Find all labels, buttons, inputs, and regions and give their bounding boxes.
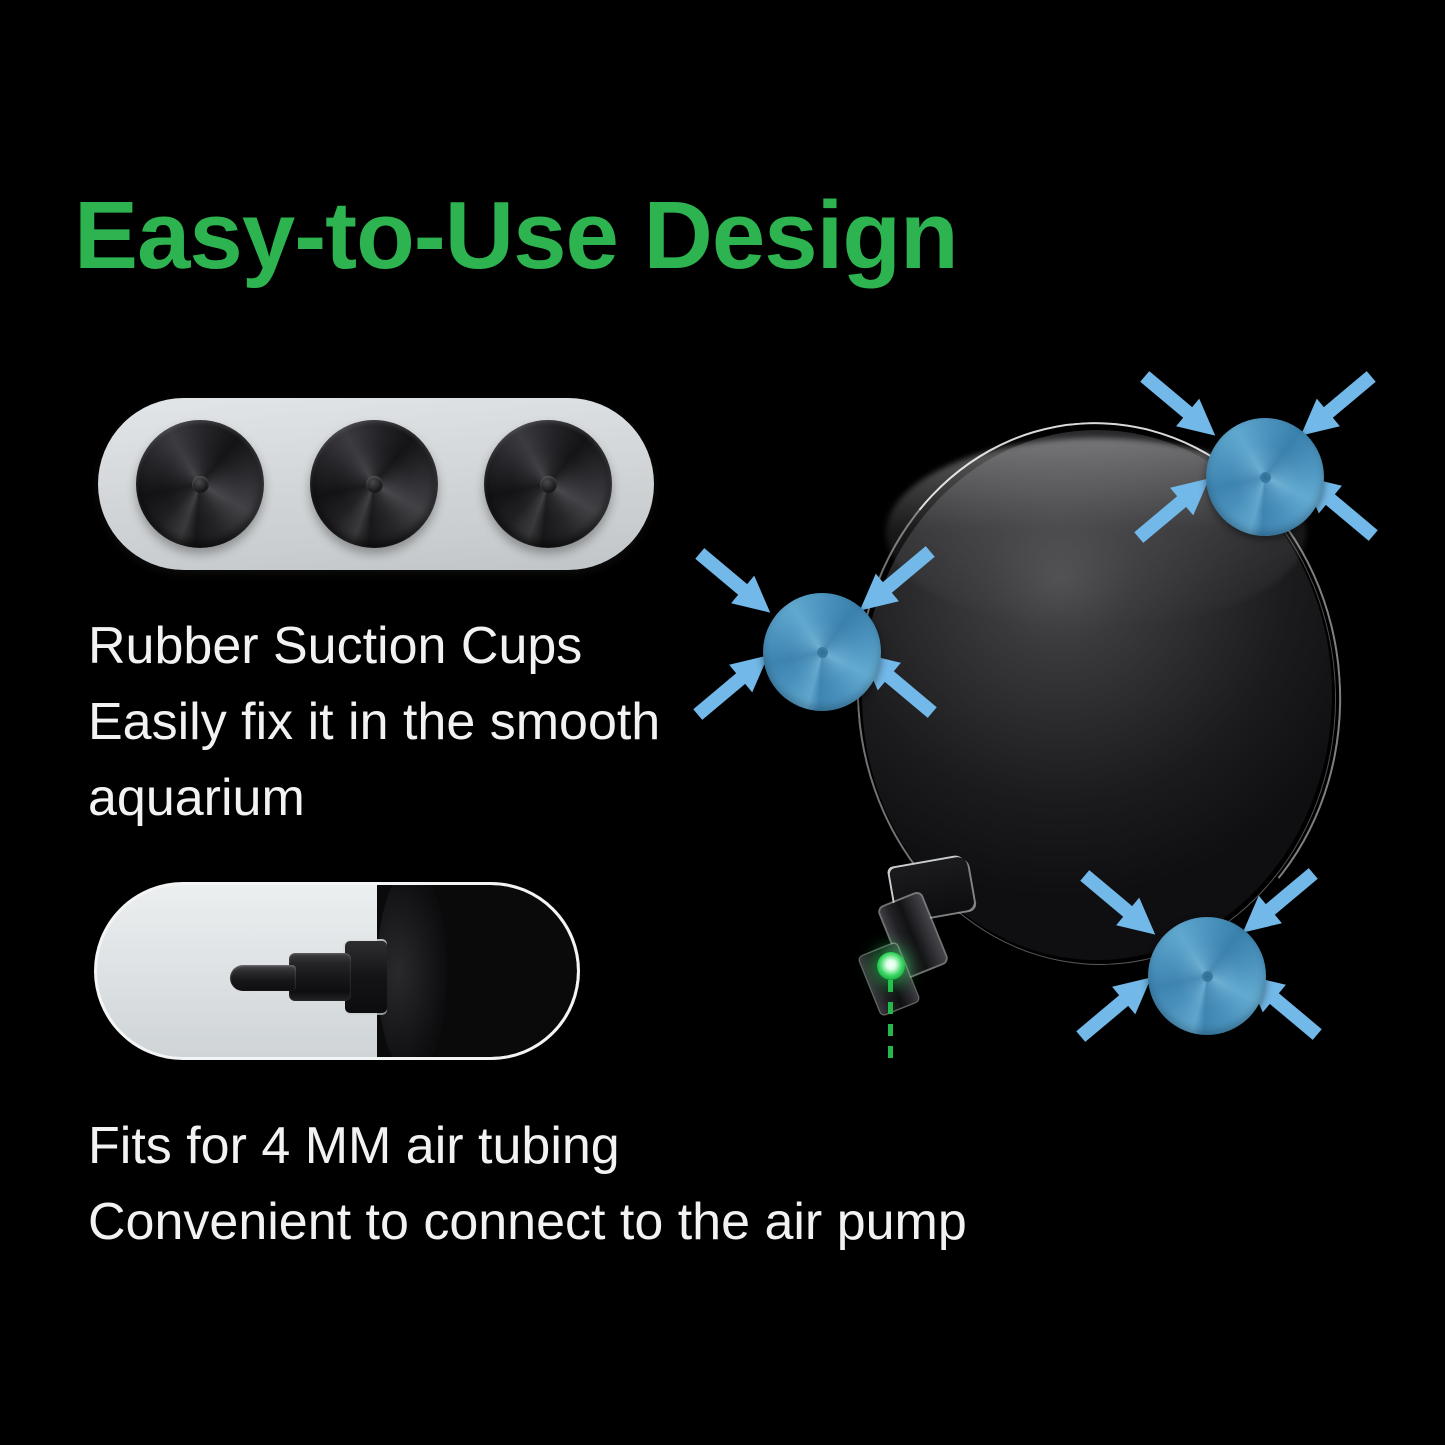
nozzle-card-disc-edge [377, 882, 447, 1060]
nozzle-tip [230, 965, 296, 991]
air-nozzle-connector-image [94, 882, 580, 1060]
rubber-suction-cup-strip-image [98, 398, 654, 570]
product-suction-cup-left [763, 593, 881, 711]
product-suction-cup-bottom-right [1148, 917, 1266, 1035]
product-suction-cup-top-right [1206, 418, 1324, 536]
suction-cups-desc-line2: aquarium [88, 760, 848, 836]
air-tubing-heading: Fits for 4 MM air tubing [88, 1108, 1388, 1184]
tubing-direction-dashed-line [888, 980, 893, 1068]
air-tubing-caption: Fits for 4 MM air tubing Convenient to c… [88, 1108, 1388, 1260]
suction-cup-2 [310, 420, 438, 548]
connection-point-indicator [877, 952, 905, 980]
suction-cup-3 [484, 420, 612, 548]
product-suction-cup-disc [763, 593, 881, 711]
product-suction-cup-disc [1206, 418, 1324, 536]
disc-nozzle-assembly [855, 862, 995, 1012]
page-title: Easy-to-Use Design [74, 188, 958, 284]
product-suction-cup-disc [1148, 917, 1266, 1035]
nozzle-base [345, 941, 387, 1013]
suction-cups-caption: Rubber Suction Cups Easily fix it in the… [88, 608, 848, 836]
air-tubing-desc-line1: Convenient to connect to the air pump [88, 1184, 1388, 1260]
nozzle-card-dark-half [377, 885, 577, 1057]
infographic-canvas: Easy-to-Use Design Rubber Suction Cups E… [0, 0, 1445, 1445]
nozzle-collar [289, 953, 351, 1001]
suction-cup-1 [136, 420, 264, 548]
